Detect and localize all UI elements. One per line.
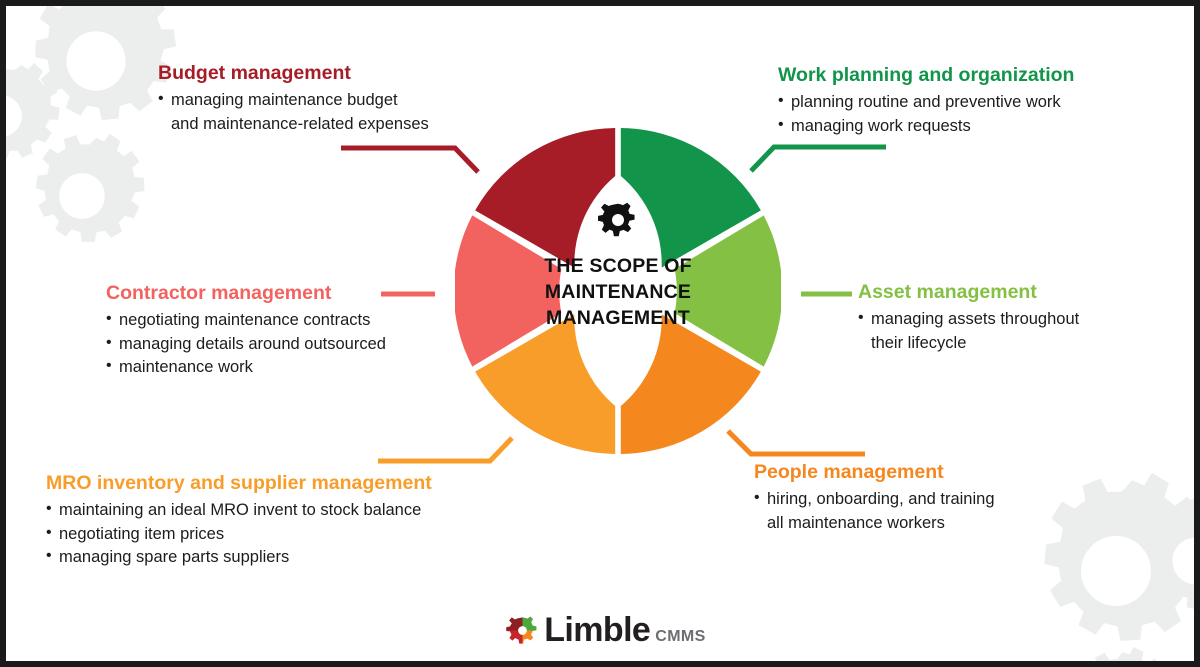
list-item: planning routine and preventive work <box>778 91 1138 114</box>
bullets-mro-inventory: maintaining an ideal MRO invent to stock… <box>46 499 516 569</box>
logo-suffix: CMMS <box>655 629 705 647</box>
bullets-work-planning: planning routine and preventive work man… <box>778 91 1138 138</box>
list-item: maintenance work <box>106 356 446 379</box>
list-item: managing work requests <box>778 115 1138 138</box>
block-contractor-management: Contractor management negotiating mainte… <box>106 282 446 380</box>
infographic-root: THE SCOPE OF MAINTENANCE MANAGEMENT Budg… <box>0 0 1200 667</box>
list-item: and maintenance-related expenses <box>158 113 488 136</box>
list-item: maintaining an ideal MRO invent to stock… <box>46 499 516 522</box>
list-item: all maintenance workers <box>754 512 1074 535</box>
bullets-contractor-management: negotiating maintenance contracts managi… <box>106 309 446 379</box>
list-item: their lifecycle <box>858 332 1138 355</box>
page-title: THE SCOPE OF MAINTENANCE MANAGEMENT <box>544 254 692 332</box>
block-people-management: People management hiring, onboarding, an… <box>754 461 1074 535</box>
bullets-budget-management: managing maintenance budget and maintena… <box>158 89 488 136</box>
limble-logo[interactable]: Limble CMMS <box>6 613 1200 647</box>
list-item: managing assets throughout <box>858 308 1138 331</box>
list-item: managing details around outsourced <box>106 333 446 356</box>
gear-icon <box>598 200 638 240</box>
bullets-people-management: hiring, onboarding, and training all mai… <box>754 488 1074 535</box>
limble-gear-logo-icon <box>506 614 539 647</box>
heading-mro-inventory: MRO inventory and supplier management <box>46 472 516 495</box>
list-item: negotiating maintenance contracts <box>106 309 446 332</box>
block-budget-management: Budget management managing maintenance b… <box>158 62 488 136</box>
donut-center-label: THE SCOPE OF MAINTENANCE MANAGEMENT <box>504 194 732 390</box>
bullets-asset-management: managing assets throughout their lifecyc… <box>858 308 1138 355</box>
heading-people-management: People management <box>754 461 1074 484</box>
list-item: negotiating item prices <box>46 523 516 546</box>
block-mro-inventory: MRO inventory and supplier management ma… <box>46 472 516 570</box>
block-work-planning: Work planning and organization planning … <box>778 64 1138 138</box>
heading-budget-management: Budget management <box>158 62 488 85</box>
list-item: managing spare parts suppliers <box>46 546 516 569</box>
heading-contractor-management: Contractor management <box>106 282 446 305</box>
list-item: managing maintenance budget <box>158 89 488 112</box>
block-asset-management: Asset management managing assets through… <box>858 281 1138 355</box>
logo-wordmark: Limble <box>544 613 650 647</box>
heading-work-planning: Work planning and organization <box>778 64 1138 87</box>
heading-asset-management: Asset management <box>858 281 1138 304</box>
list-item: hiring, onboarding, and training <box>754 488 1074 511</box>
